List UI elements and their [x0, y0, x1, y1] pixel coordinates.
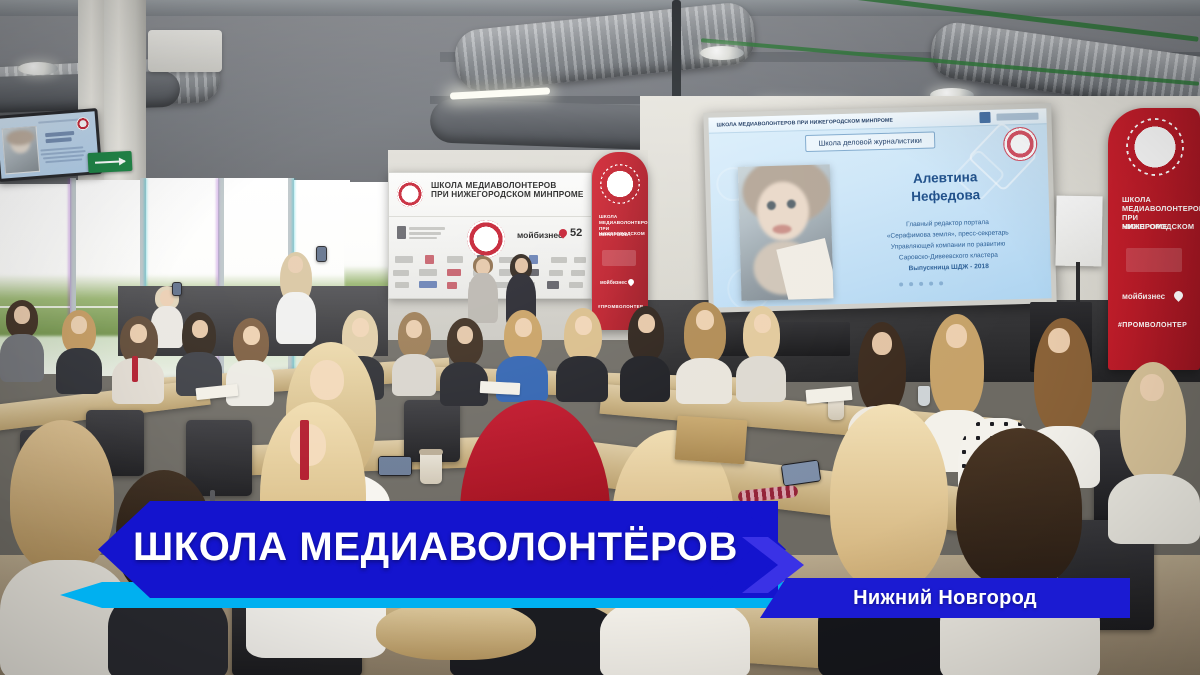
sponsor-pin-icon: [1172, 289, 1185, 302]
press-wall-title-line2: ПРИ НИЖЕГОРОДСКОМ МИНПРОМЕ: [431, 190, 585, 199]
document-sheet: [480, 381, 521, 395]
audience-member: [276, 252, 316, 342]
smartphone: [316, 246, 327, 262]
audience-member: [56, 310, 102, 390]
wall-monitor-screen: [0, 111, 99, 179]
water-glass: [918, 386, 930, 406]
gear-logo-icon: [1130, 122, 1180, 172]
slide-dot-row: [899, 281, 943, 286]
audience-member: [620, 306, 670, 400]
audience-member: [736, 306, 786, 400]
flipchart: [1055, 196, 1102, 267]
rollup-banner-left: ШКОЛА МЕДИАВОЛОНТЕРОВ ПРИ НИЖЕГОРОДСКОМ …: [592, 152, 648, 330]
rollup-banner-right: ШКОЛА МЕДИАВОЛОНТЕРОВ ПРИ НИЖЕГОРОДСКОМ …: [1108, 108, 1200, 370]
rollup-left-brand: мойбизнес: [600, 280, 627, 286]
audience-member: [176, 312, 222, 392]
ceiling-equipment-box: [148, 30, 222, 72]
speaker-portrait: [738, 164, 834, 301]
lanyard: [132, 356, 138, 382]
rollup-right-ministry-logo: [1126, 248, 1182, 272]
tv-news-frame: ШКОЛА МЕДИАВОЛОНТЕРОВ ПРИ НИЖЕГОРОДСКОМ …: [0, 0, 1200, 675]
rollup-left-line2: МЕДИАВОЛОНТЕРОВ: [599, 220, 648, 225]
audience-member: [392, 312, 436, 392]
rollup-right-brand: мойбизнес: [1122, 292, 1165, 301]
lower-third-location: Нижний Новгород: [760, 578, 1130, 618]
rollup-left-line1: ШКОЛА: [599, 214, 617, 219]
arrow-right-icon: [95, 160, 126, 164]
projection-screen-frame: ШКОЛА МЕДИАВОЛОНТЕРОВ ПРИ НИЖЕГОРОДСКОМ …: [703, 103, 1056, 313]
gear-logo-icon: [604, 168, 636, 200]
audience-member: [0, 300, 44, 380]
monitor-portrait: [1, 125, 40, 174]
speaker-at-podium: [466, 256, 500, 322]
rollup-left-ministry-logo: [602, 250, 636, 266]
slide-header-text: ШКОЛА МЕДИАВОЛОНТЕРОВ ПРИ НИЖЕГОРОДСКОМ …: [717, 117, 894, 128]
slide-header-ministry-icon: [979, 112, 990, 123]
sponsor-pin-icon: [627, 278, 635, 286]
wall-monitor: [0, 108, 102, 182]
lanyard: [300, 420, 309, 480]
gear-logo-icon: [467, 220, 505, 258]
slide-section-chip: Школа деловой журналистики: [805, 131, 935, 152]
audience-member: [112, 316, 164, 400]
press-wall-title-line1: ШКОЛА МЕДИАВОЛОНТЕРОВ: [431, 181, 585, 190]
slide-header-partner-logo: [996, 113, 1038, 121]
rollup-right-hashtag: #ПРОМВОЛОНТЕР: [1118, 322, 1187, 329]
rollup-right-line4: МИНПРОМЕ: [1122, 223, 1167, 232]
exit-arrow-sign: [88, 151, 133, 173]
lower-third-graphic: ШКОЛА МЕДИАВОЛОНТЁРОВ Нижний Новгород: [0, 475, 1200, 675]
lower-third-headline: ШКОЛА МЕДИАВОЛОНТЁРОВ: [133, 515, 773, 579]
audience-member: [676, 302, 732, 402]
paper-bag: [675, 416, 748, 465]
smartphone: [378, 456, 412, 476]
monitor-gear-logo: [76, 116, 90, 130]
sponsor-region-label: 52: [570, 227, 582, 239]
smartphone: [172, 282, 182, 296]
sponsor-brand-label: мойбизнес: [517, 230, 563, 240]
audience-member: [556, 308, 608, 400]
presentation-slide: ШКОЛА МЕДИАВОЛОНТЕРОВ ПРИ НИЖЕГОРОДСКОМ …: [708, 108, 1051, 307]
press-wall-header: ШКОЛА МЕДИАВОЛОНТЕРОВ ПРИ НИЖЕГОРОДСКОМ …: [389, 173, 591, 217]
speaker-last-name: Нефедова: [860, 185, 1030, 208]
rollup-left-line4: МИНПРОМЕ: [599, 232, 628, 237]
gear-logo-icon: [397, 181, 423, 207]
